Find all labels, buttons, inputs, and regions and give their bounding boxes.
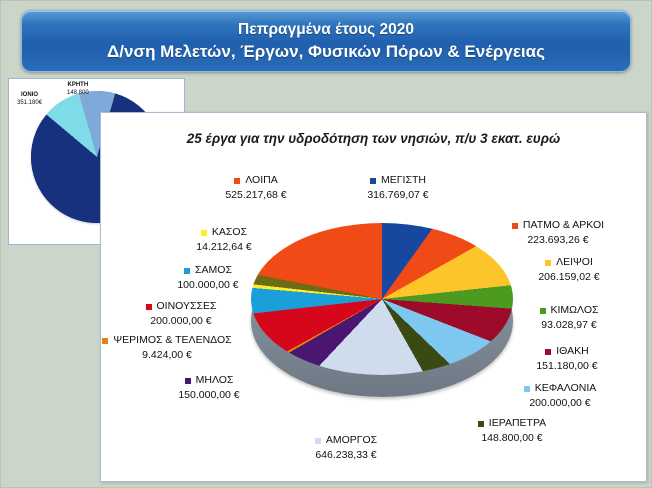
label-samos: ΣΑΜΟΣ 100.000,00 € xyxy=(143,263,273,293)
swatch-loipa xyxy=(234,178,240,184)
label-kimolos-name: ΚΙΜΩΛΟΣ xyxy=(551,303,599,318)
label-loipa-value: 525.217,68 € xyxy=(191,188,321,203)
pie-3d-surface xyxy=(251,223,513,375)
label-ithaki-name: ΙΘΑΚΗ xyxy=(556,344,588,359)
main-chart-panel: 25 έργα για την υδροδότηση των νησιών, π… xyxy=(100,112,647,482)
label-patmo: ΠΑΤΜΟ & ΑΡΚΟΙ 223.693,26 € xyxy=(479,218,637,248)
swatch-megisth xyxy=(370,178,376,184)
label-pserimos-name: ΨΕΡΙΜΟΣ & ΤΕΛΕΝΔΟΣ xyxy=(113,333,231,348)
label-oinousses: ΟΙΝΟΥΣΣΕΣ 200.000,00 € xyxy=(111,299,251,329)
mini-label-krhth-value: 148.800 xyxy=(67,90,89,96)
label-oinousses-name: ΟΙΝΟΥΣΣΕΣ xyxy=(157,299,217,314)
label-loipa: ΛΟΙΠΑ 525.217,68 € xyxy=(191,173,321,203)
swatch-kefalonia xyxy=(524,386,530,392)
label-megisth-value: 316.769,07 € xyxy=(333,188,463,203)
label-leipsoi: ΛΕΙΨΟΙ 206.159,02 € xyxy=(501,255,637,285)
label-kasos-value: 14.212,64 € xyxy=(159,240,289,255)
swatch-oinousses xyxy=(146,304,152,310)
label-oinousses-value: 200.000,00 € xyxy=(111,314,251,329)
label-amorgos-value: 646.238,33 € xyxy=(271,448,421,463)
swatch-ithaki xyxy=(545,349,551,355)
label-ierapetra-name: ΙΕΡΑΠΕΤΡΑ xyxy=(489,416,546,431)
label-amorgos: ΑΜΟΡΓΟΣ 646.238,33 € xyxy=(271,433,421,463)
label-samos-value: 100.000,00 € xyxy=(143,278,273,293)
swatch-kimolos xyxy=(540,308,546,314)
label-amorgos-name: ΑΜΟΡΓΟΣ xyxy=(326,433,377,448)
projects-pie-chart xyxy=(251,223,513,413)
label-milos-name: ΜΗΛΟΣ xyxy=(196,373,234,388)
chart-title: 25 έργα για την υδροδότηση των νησιών, π… xyxy=(101,131,646,146)
label-pserimos: ΨΕΡΙΜΟΣ & ΤΕΛΕΝΔΟΣ 9.424,00 € xyxy=(85,333,249,363)
label-kimolos: ΚΙΜΩΛΟΣ 93.028,97 € xyxy=(501,303,637,333)
label-milos: ΜΗΛΟΣ 150.000,00 € xyxy=(141,373,277,403)
mini-label-krhth: ΚΡΗΤΗ 148.800 xyxy=(67,82,89,97)
mini-label-ionio-value: 351.180€ xyxy=(17,100,42,106)
swatch-ierapetra xyxy=(478,421,484,427)
swatch-patmo xyxy=(512,223,518,229)
swatch-samos xyxy=(184,268,190,274)
label-megisth: ΜΕΓΙΣΤΗ 316.769,07 € xyxy=(333,173,463,203)
mini-label-ionio: ΙΟΝΙΟ 351.180€ xyxy=(17,92,42,107)
label-ithaki: ΙΘΑΚΗ 151.180,00 € xyxy=(499,344,635,374)
label-ierapetra: ΙΕΡΑΠΕΤΡΑ 148.800,00 € xyxy=(437,416,587,446)
label-leipsoi-value: 206.159,02 € xyxy=(501,270,637,285)
swatch-amorgos xyxy=(315,438,321,444)
label-kefalonia: ΚΕΦΑΛΟΝΙΑ 200.000,00 € xyxy=(485,381,635,411)
label-kasos-name: ΚΑΣΟΣ xyxy=(212,225,247,240)
label-kasos: ΚΑΣΟΣ 14.212,64 € xyxy=(159,225,289,255)
label-patmo-value: 223.693,26 € xyxy=(479,233,637,248)
label-loipa-name: ΛΟΙΠΑ xyxy=(245,173,277,188)
label-milos-value: 150.000,00 € xyxy=(141,388,277,403)
label-ierapetra-value: 148.800,00 € xyxy=(437,431,587,446)
label-patmo-name: ΠΑΤΜΟ & ΑΡΚΟΙ xyxy=(523,218,604,233)
label-kefalonia-value: 200.000,00 € xyxy=(485,396,635,411)
label-samos-name: ΣΑΜΟΣ xyxy=(195,263,232,278)
header-title-line2: Δ/νση Μελετών, Έργων, Φυσικών Πόρων & Εν… xyxy=(107,42,545,62)
swatch-kasos xyxy=(201,230,207,236)
label-pserimos-value: 9.424,00 € xyxy=(85,348,249,363)
label-megisth-name: ΜΕΓΙΣΤΗ xyxy=(381,173,426,188)
label-ithaki-value: 151.180,00 € xyxy=(499,359,635,374)
swatch-milos xyxy=(185,378,191,384)
label-kimolos-value: 93.028,97 € xyxy=(501,318,637,333)
label-leipsoi-name: ΛΕΙΨΟΙ xyxy=(556,255,593,270)
header-title-line1: Πεπραγμένα έτους 2020 xyxy=(238,21,414,39)
swatch-pserimos xyxy=(102,338,108,344)
mini-label-krhth-name: ΚΡΗΤΗ xyxy=(68,82,89,88)
mini-label-ionio-name: ΙΟΝΙΟ xyxy=(21,92,38,98)
label-kefalonia-name: ΚΕΦΑΛΟΝΙΑ xyxy=(535,381,597,396)
header-banner: Πεπραγμένα έτους 2020 Δ/νση Μελετών, Έργ… xyxy=(21,10,631,72)
swatch-leipsoi xyxy=(545,260,551,266)
